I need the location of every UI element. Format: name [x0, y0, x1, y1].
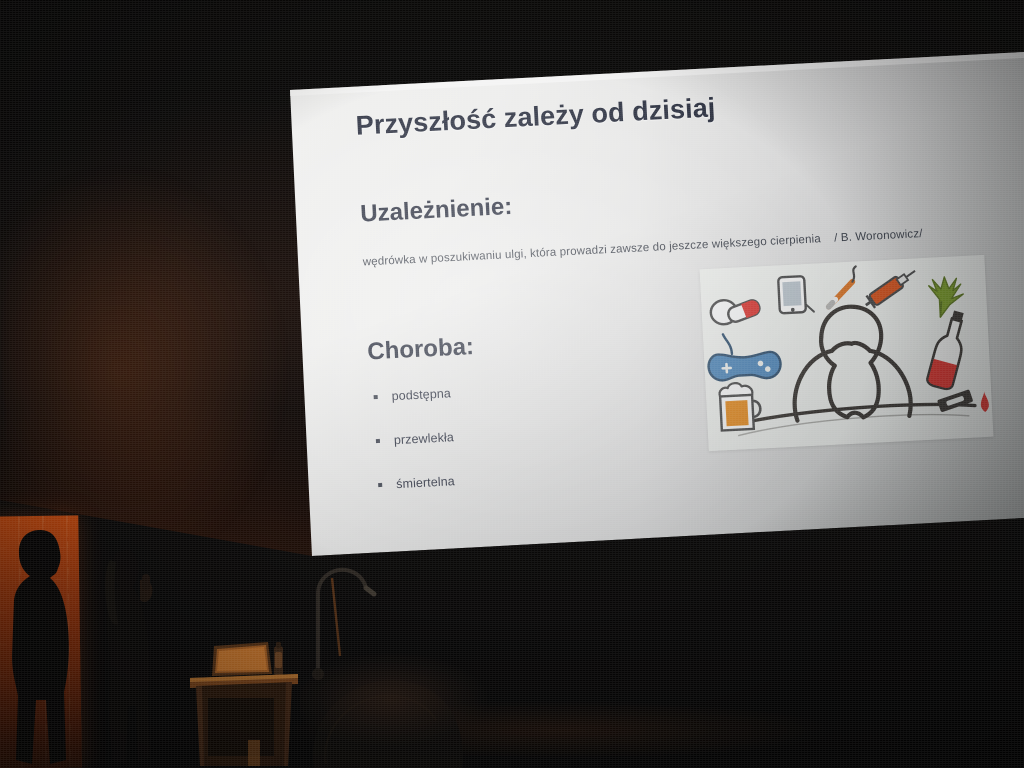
photo-canvas: Przyszłość zależy od dzisiaj Uzależnieni…	[0, 0, 1024, 768]
stage-equipment-shadow	[300, 630, 550, 768]
choroba-bullet-list: podstępna przewlekła śmiertelna	[369, 386, 458, 522]
definition-attribution: / B. Woronowicz/	[834, 228, 923, 244]
addiction-collage-illustration	[700, 255, 994, 451]
water-bottle	[274, 642, 283, 676]
slide-title: Przyszłość zależy od dzisiaj	[355, 92, 716, 141]
wooden-podium-table	[186, 640, 302, 768]
slide-heading-choroba: Choroba:	[367, 333, 475, 366]
open-laptop	[212, 642, 272, 676]
list-item: śmiertelna	[374, 474, 457, 492]
definition-text: wędrówka w poszukiwaniu ulgi, która prow…	[363, 233, 822, 268]
list-item: przewlekła	[372, 430, 455, 448]
slide-heading-uzaleznienie: Uzależnienie:	[360, 193, 513, 229]
list-item: podstępna	[369, 386, 452, 404]
slide: Przyszłość zależy od dzisiaj Uzależnieni…	[290, 14, 1024, 551]
speaker-silhouette	[100, 546, 170, 768]
foreground-person-silhouette	[6, 524, 84, 768]
